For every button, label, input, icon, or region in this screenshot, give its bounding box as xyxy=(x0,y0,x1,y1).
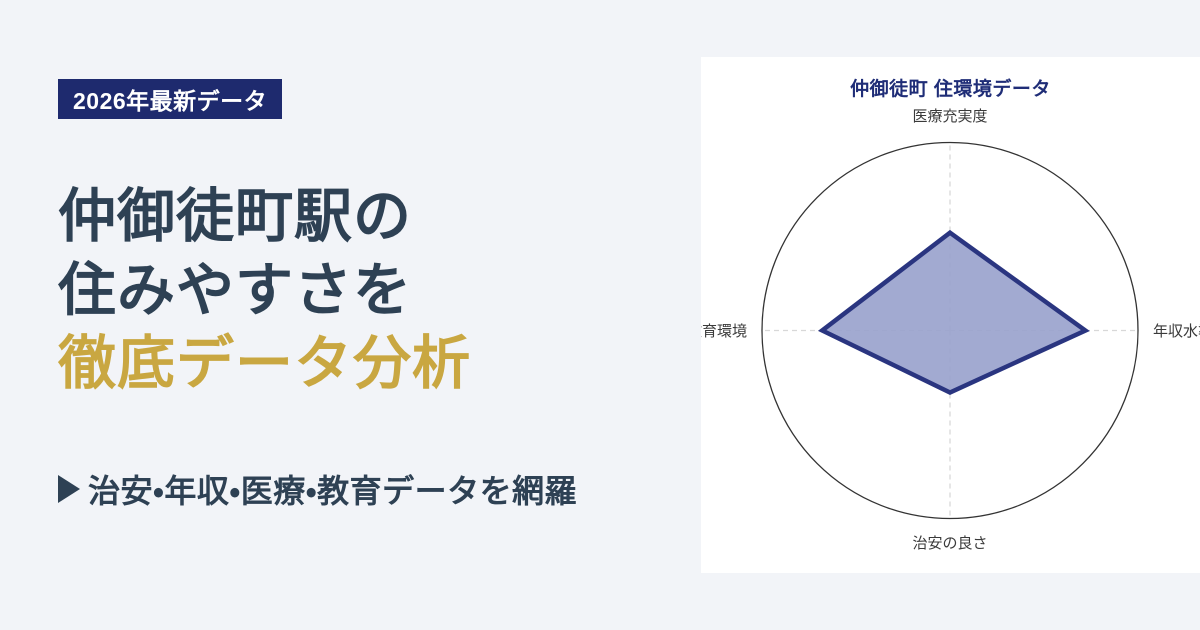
radar-chart-panel: 仲御徒町 住環境データ 医療充実度 年収水準 治安の良さ 教育環境 xyxy=(701,57,1200,573)
radar-chart-svg: 医療充実度 年収水準 治安の良さ 教育環境 xyxy=(701,57,1200,573)
headline-line-2: 住みやすさを xyxy=(58,254,698,328)
og-image-root: 2026年最新データ 仲御徒町駅の 住みやすさを 徹底データ分析 治安・年収・医… xyxy=(0,0,1200,630)
radar-label-left: 教育環境 xyxy=(701,323,747,340)
radar-label-right: 年収水準 xyxy=(1153,323,1200,340)
triangle-right-icon xyxy=(58,475,80,503)
subtitle: 治安・年収・医療・教育データを網羅 xyxy=(58,466,577,512)
headline-line-3-accent: 徹底データ分析 xyxy=(58,327,698,401)
headline-line-1: 仲御徒町駅の xyxy=(58,180,698,254)
latest-data-badge: 2026年最新データ xyxy=(58,79,282,119)
left-content-column: 2026年最新データ 仲御徒町駅の 住みやすさを 徹底データ分析 治安・年収・医… xyxy=(58,0,698,630)
page-title: 仲御徒町駅の 住みやすさを 徹底データ分析 xyxy=(58,180,698,401)
radar-data-polygon xyxy=(822,233,1085,393)
radar-label-top: 医療充実度 xyxy=(912,108,987,125)
subtitle-label: 治安・年収・医療・教育データを網羅 xyxy=(88,466,577,512)
badge-label: 2026年最新データ xyxy=(73,82,267,116)
radar-label-bottom: 治安の良さ xyxy=(912,535,987,552)
